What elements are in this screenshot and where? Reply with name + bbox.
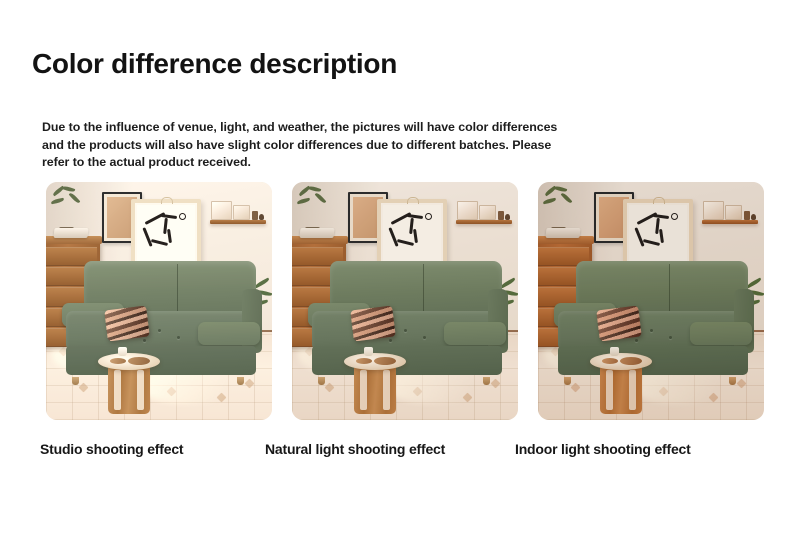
wall-shelf [210, 220, 266, 224]
caption-indoor-light: Indoor light shooting effect [515, 441, 691, 457]
striped-pillow [350, 306, 395, 342]
sofa-arm-right [690, 322, 752, 345]
room-scene [292, 182, 518, 420]
green-sofa [554, 261, 750, 380]
wall-shelf [456, 220, 512, 224]
caption-natural-light: Natural light shooting effect [265, 441, 445, 457]
wall-shelf [702, 220, 758, 224]
room-scene [538, 182, 764, 420]
striped-pillow [596, 306, 641, 342]
color-difference-page: Color difference description Due to the … [0, 0, 809, 536]
side-table [590, 353, 652, 415]
green-sofa [308, 261, 504, 380]
product-photo-indoor-light[interactable] [538, 182, 764, 420]
page-title: Color difference description [32, 47, 452, 81]
room-scene [46, 182, 272, 420]
disclaimer-text: Due to the influence of venue, light, an… [42, 119, 572, 171]
books-stack [545, 228, 580, 238]
green-sofa [62, 261, 258, 380]
books-stack [299, 228, 334, 238]
striped-pillow [104, 306, 149, 342]
side-table [344, 353, 406, 415]
sofa-arm-right [198, 322, 260, 345]
caption-studio: Studio shooting effect [40, 441, 183, 457]
side-table [98, 353, 160, 415]
books-stack [53, 228, 88, 238]
sofa-arm-right [444, 322, 506, 345]
shot-gallery [0, 182, 809, 420]
product-photo-studio[interactable] [46, 182, 272, 420]
product-photo-natural-light[interactable] [292, 182, 518, 420]
